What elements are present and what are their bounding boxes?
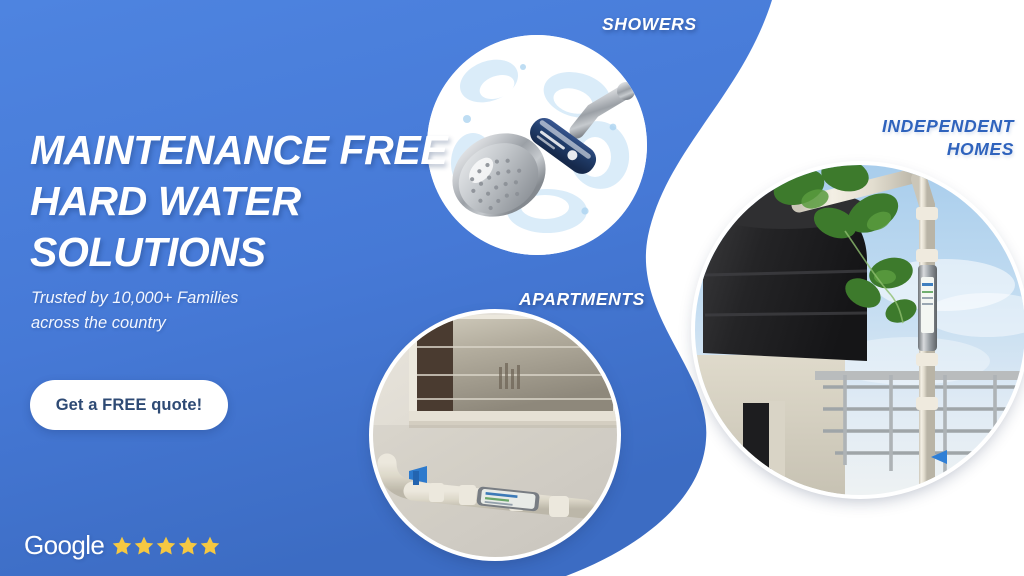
google-rating: Google: [24, 532, 221, 558]
page-title: MAINTENANCE FREE HARD WATER SOLUTIONS: [30, 125, 450, 278]
showers-illustration: [427, 35, 647, 255]
subheading: Trusted by 10,000+ Families across the c…: [31, 286, 361, 336]
copy-column: MAINTENANCE FREE HARD WATER SOLUTIONS Tr…: [30, 0, 430, 576]
independent-homes-illustration: [695, 165, 1024, 495]
label-apartments: APARTMENTS: [519, 288, 645, 311]
star-icon: [111, 535, 133, 557]
star-icon: [155, 535, 177, 557]
get-free-quote-button[interactable]: Get a FREE quote!: [30, 380, 228, 430]
subheading-line-2: across the country: [31, 311, 361, 336]
marketing-banner: SHOWERS APARTMENTS INDEPENDENT HOMES MAI…: [0, 0, 1024, 576]
headline-line-1: MAINTENANCE FREE: [30, 125, 450, 176]
photo-independent-homes: [695, 165, 1024, 495]
star-icon: [199, 535, 221, 557]
star-icon: [133, 535, 155, 557]
label-showers: SHOWERS: [602, 13, 697, 36]
headline-line-2: HARD WATER: [30, 176, 450, 227]
subheading-line-1: Trusted by 10,000+ Families: [31, 286, 361, 311]
photo-showers: [427, 35, 647, 255]
star-icon: [177, 535, 199, 557]
google-wordmark: Google: [24, 532, 104, 558]
headline-line-3: SOLUTIONS: [30, 227, 450, 278]
star-rating: [111, 535, 221, 557]
label-independent-homes: INDEPENDENT HOMES: [764, 115, 1014, 161]
